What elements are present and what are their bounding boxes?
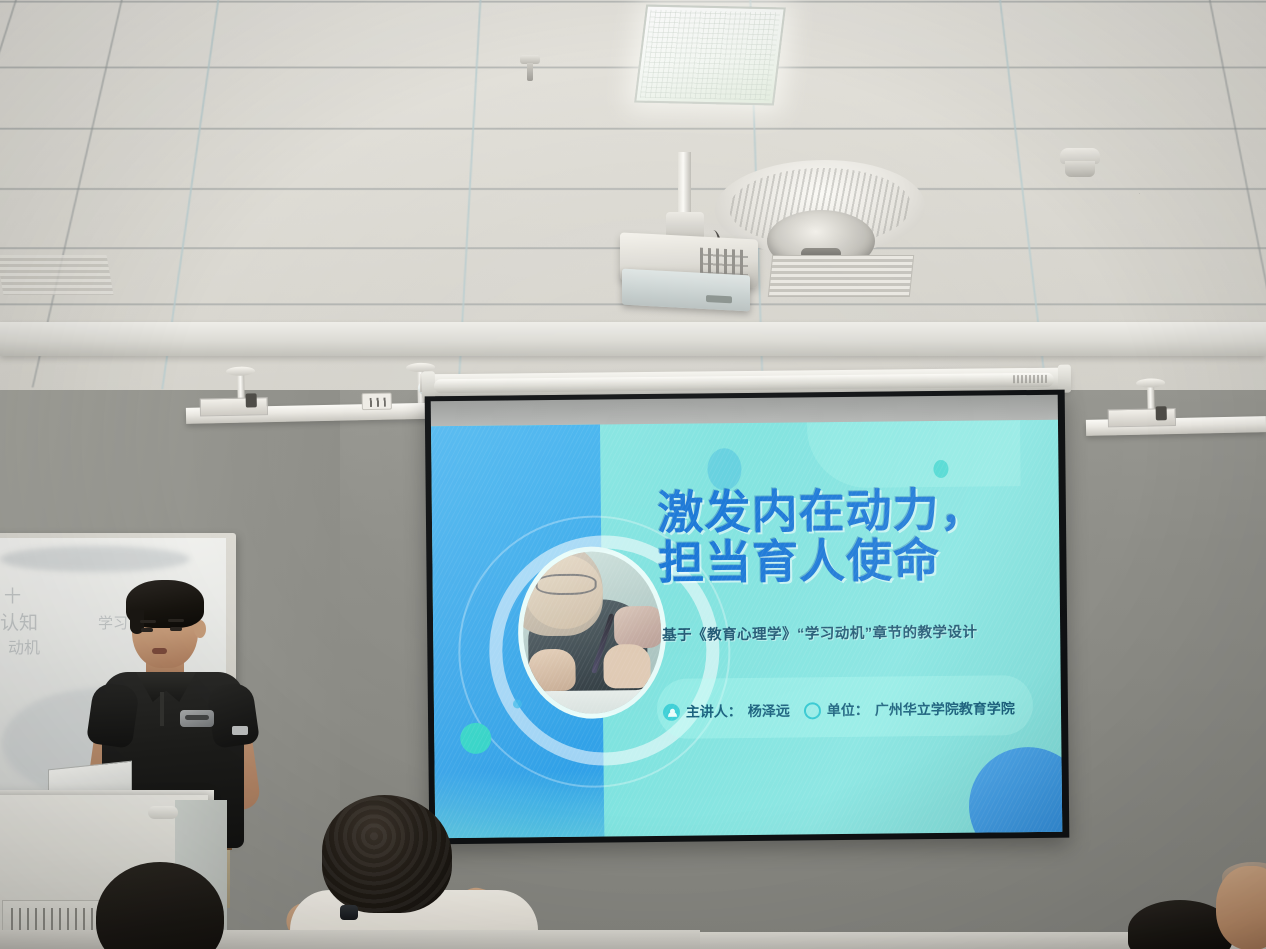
projector-pole-mount — [678, 152, 691, 220]
mouse-on-podium — [148, 806, 178, 819]
polo-chest-logo — [180, 710, 214, 727]
wristwatch-icon — [340, 905, 358, 920]
slide-dot-decoration — [933, 460, 948, 478]
person-icon — [663, 703, 680, 720]
slide-dot-decoration — [460, 722, 491, 753]
slide-title-line-1: 激发内在动力， — [657, 484, 1046, 539]
smoke-detector-icon — [1060, 148, 1100, 164]
slide-subtitle: 基于《教育心理学》“学习动机”章节的教学设计 — [662, 620, 1038, 645]
presenter-meta: 主讲人： 杨泽远 — [663, 701, 790, 722]
student-writing-photo — [517, 545, 667, 719]
audience-member-far-right — [1216, 866, 1266, 949]
glasses-icon — [536, 574, 597, 596]
slide-title: 激发内在动力， 担当育人使命 — [657, 484, 1047, 589]
slide-corner-shape — [807, 420, 1021, 488]
ceiling-soffit — [0, 322, 1266, 356]
affiliation-meta: 单位： 广州华立学院教育学院 — [804, 698, 1015, 720]
screen-brand-logo — [1013, 375, 1047, 383]
sprinkler-head-icon — [520, 55, 540, 64]
presentation-slide: 激发内在动力， 担当育人使命 基于《教育心理学》“学习动机”章节的教学设计 主讲… — [431, 420, 1062, 839]
classroom-photo-scene: 十 认知 动机 学习 — [0, 0, 1266, 949]
audience-member-center — [300, 795, 550, 949]
slide-dot-decoration — [513, 699, 522, 708]
wall-power-outlet — [362, 393, 392, 411]
slide-corner-circle — [968, 746, 1062, 838]
projector-lens-housing — [622, 269, 750, 312]
circle-icon — [804, 702, 821, 719]
slide-title-line-2: 担当育人使命 — [658, 534, 1047, 589]
polo-sleeve-logo — [232, 726, 248, 735]
air-vent-grille-left — [0, 255, 114, 295]
affiliation-name: 广州华立学院教育学院 — [875, 698, 1015, 719]
presenter-name: 杨泽远 — [748, 701, 790, 721]
slide-meta-row: 主讲人： 杨泽远 单位： 广州华立学院教育学院 — [663, 698, 1015, 722]
affiliation-label: 单位： — [827, 700, 869, 720]
presenter-label: 主讲人： — [686, 701, 742, 722]
slide-dot-decoration — [707, 448, 741, 490]
ceiling-light-panel — [634, 5, 786, 106]
pull-down-projection-screen: 激发内在动力， 担当育人使命 基于《教育心理学》“学习动机”章节的教学设计 主讲… — [425, 390, 1070, 845]
air-vent-grille — [768, 255, 914, 297]
